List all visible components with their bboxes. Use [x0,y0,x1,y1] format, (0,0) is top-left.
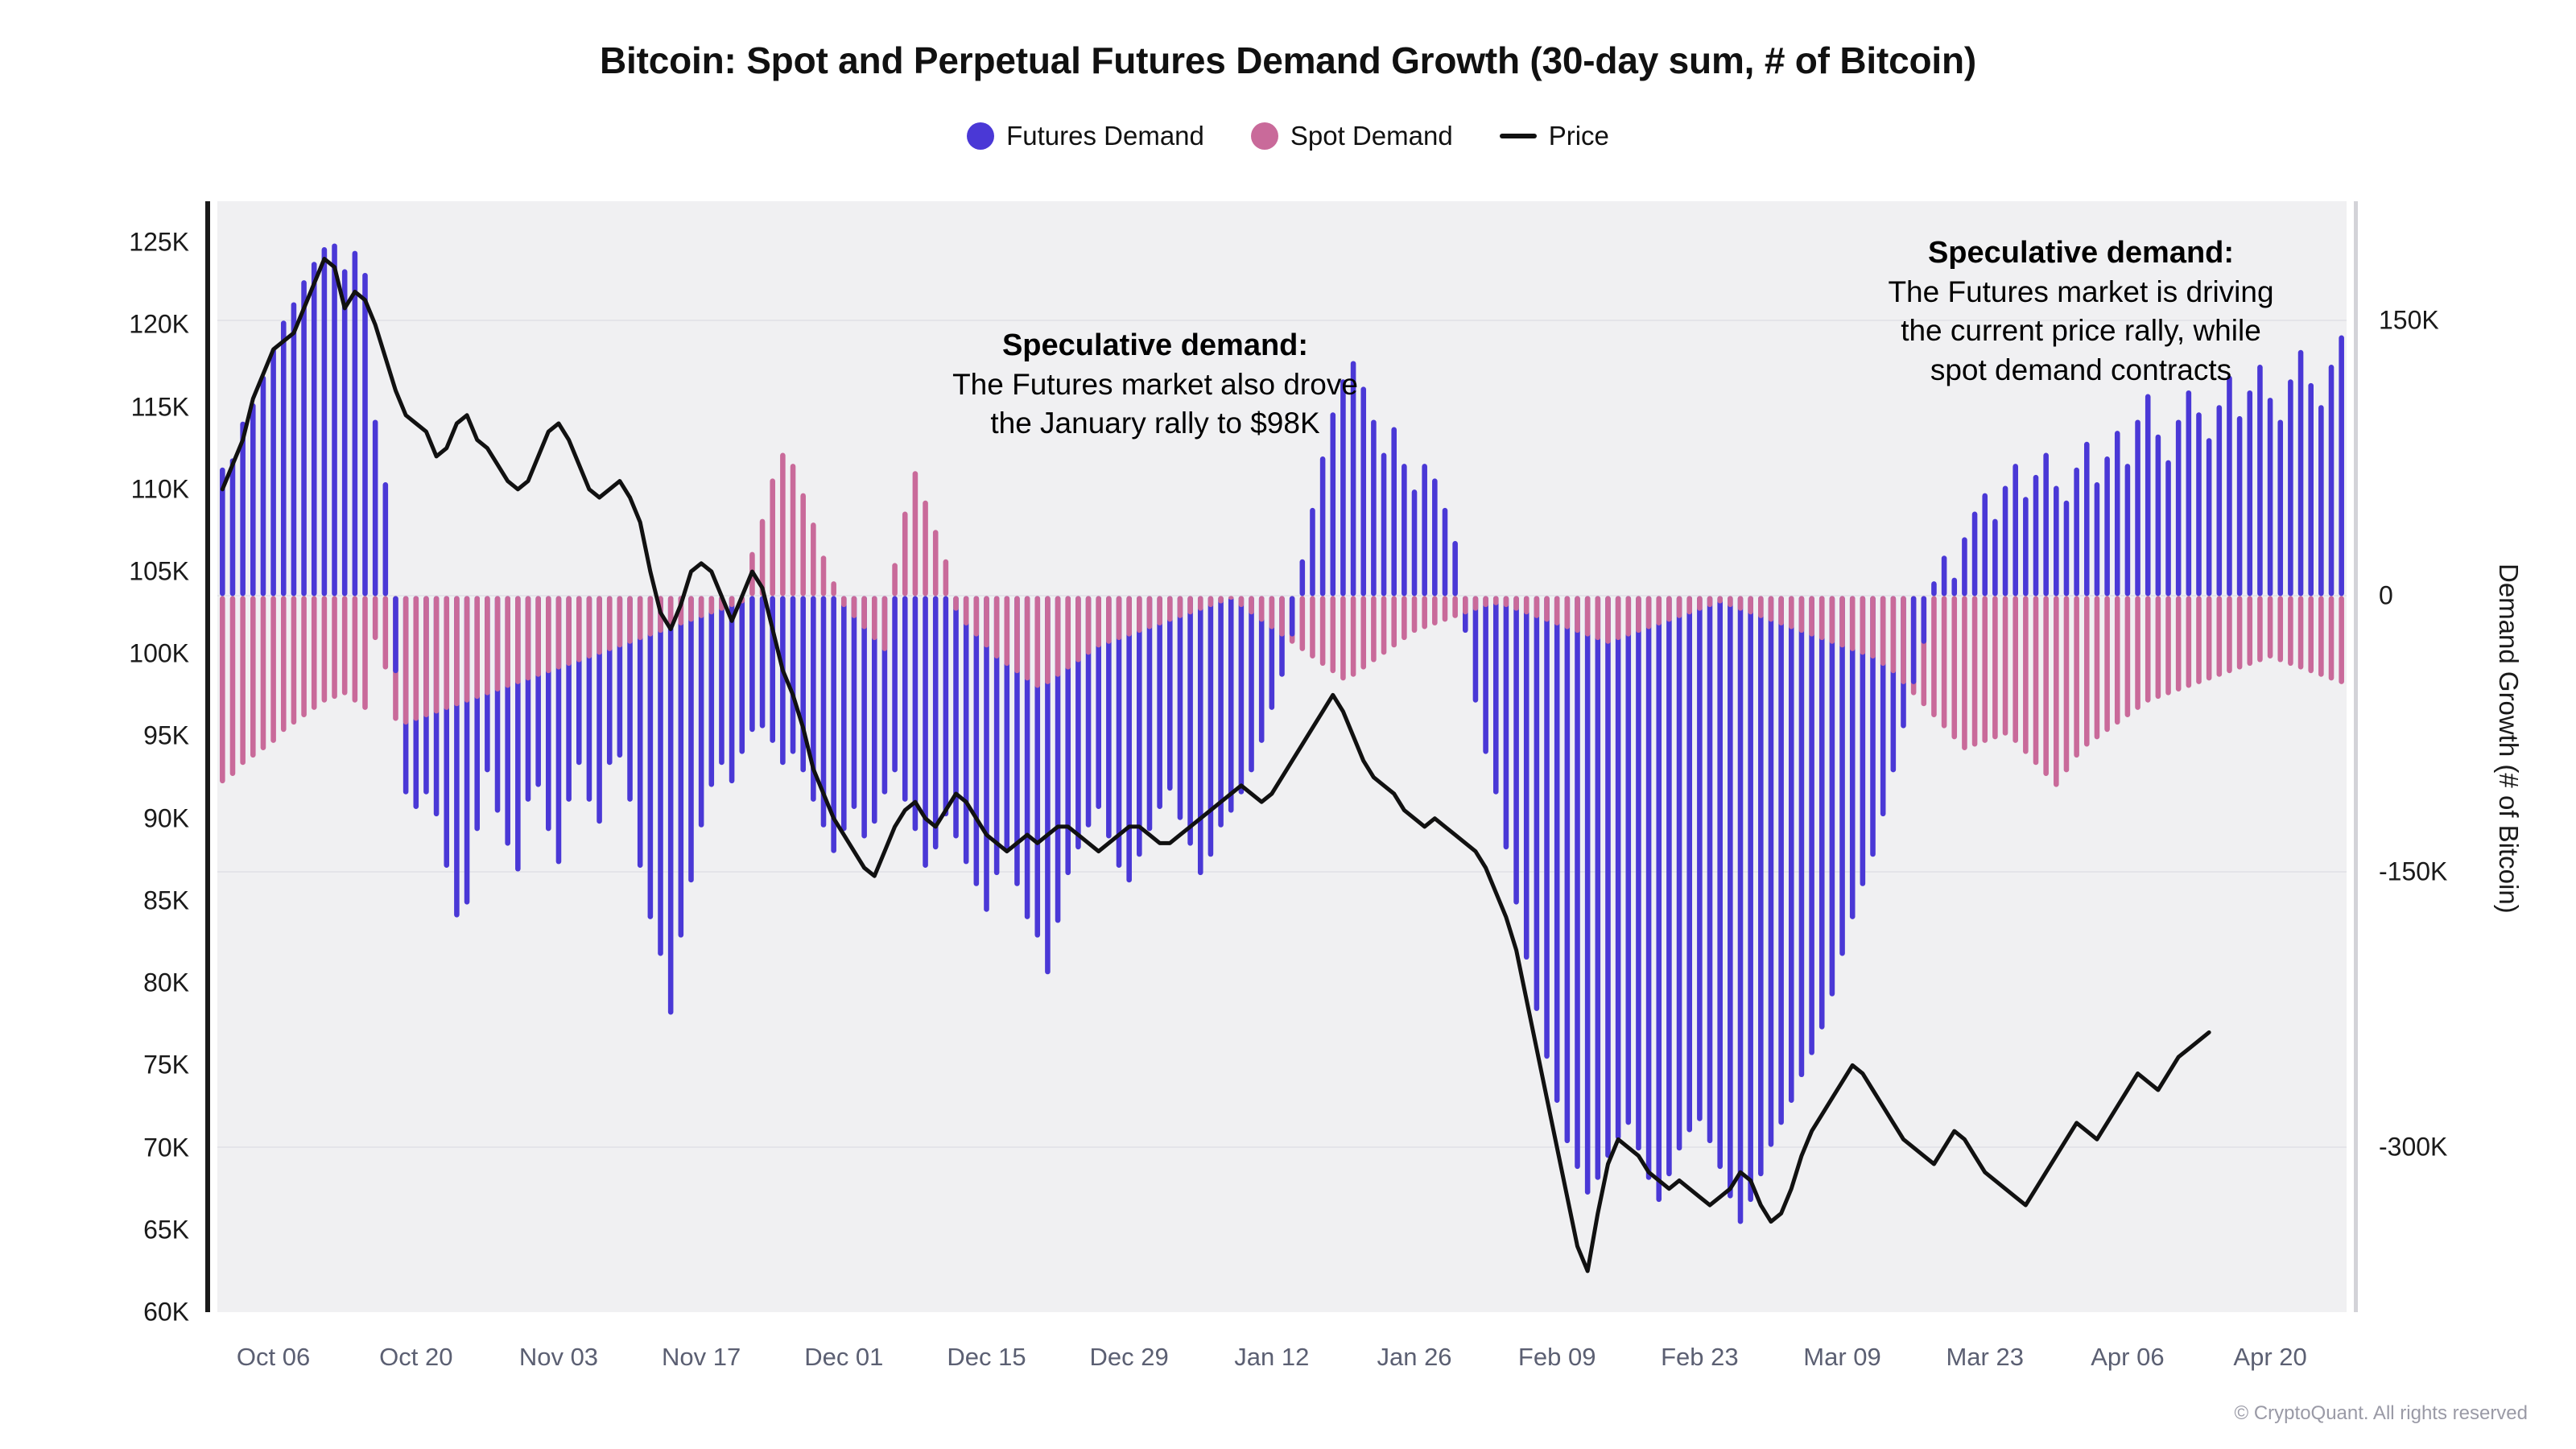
page-title: Bitcoin: Spot and Perpetual Futures Dema… [0,39,2576,82]
y-tick-left: 90K [52,803,189,833]
circle-icon [967,122,994,150]
y-tick-left: 75K [52,1051,189,1080]
y-tick-left: 105K [52,557,189,587]
y-tick-left: 65K [52,1215,189,1245]
legend-item-spot-demand[interactable]: Spot Demand [1251,121,1453,151]
y-tick-left: 70K [52,1133,189,1162]
annotation-january-head: Speculative demand: [821,326,1489,365]
chart-legend: Futures Demand Spot Demand Price [0,121,2576,151]
axis-title-right: Demand Growth (# of Bitcoin) [2493,563,2524,914]
legend-label-price: Price [1549,121,1609,151]
axis-spine-left [205,201,210,1312]
y-tick-left: 125K [52,228,189,258]
y-tick-left: 80K [52,968,189,998]
copyright-credit: © CryptoQuant. All rights reserved [2235,1402,2529,1425]
legend-item-price[interactable]: Price [1500,121,1609,151]
annotation-january-line2: the January rally to $98K [821,404,1489,443]
y-tick-right: -150K [2379,857,2564,886]
line-icon [1500,134,1537,138]
annotation-current-line1: The Futures market is driving [1747,273,2415,312]
y-tick-left: 85K [52,885,189,915]
y-tick-left: 120K [52,310,189,340]
y-tick-right: -300K [2379,1132,2564,1162]
annotation-current-line3: spot demand contracts [1747,351,2415,390]
annotation-current-head: Speculative demand: [1747,233,2415,273]
annotation-current-rally: Speculative demand: The Futures market i… [1747,233,2415,390]
legend-label-futures-demand: Futures Demand [1006,121,1204,151]
chart-root: Bitcoin: Spot and Perpetual Futures Dema… [0,0,2576,1449]
legend-label-spot-demand: Spot Demand [1290,121,1453,151]
y-tick-left: 115K [52,392,189,422]
y-tick-left: 110K [52,474,189,504]
y-tick-left: 60K [52,1298,189,1327]
y-tick-right: 0 [2379,581,2564,611]
y-tick-left: 95K [52,721,189,751]
legend-item-futures-demand[interactable]: Futures Demand [967,121,1204,151]
annotation-january-line1: The Futures market also drove [821,365,1489,404]
y-tick-left: 100K [52,639,189,669]
annotation-current-line2: the current price rally, while [1747,312,2415,350]
annotation-january-rally: Speculative demand: The Futures market a… [821,326,1489,444]
circle-icon [1251,122,1278,150]
x-tick: Apr 20 [2165,1343,2375,1372]
